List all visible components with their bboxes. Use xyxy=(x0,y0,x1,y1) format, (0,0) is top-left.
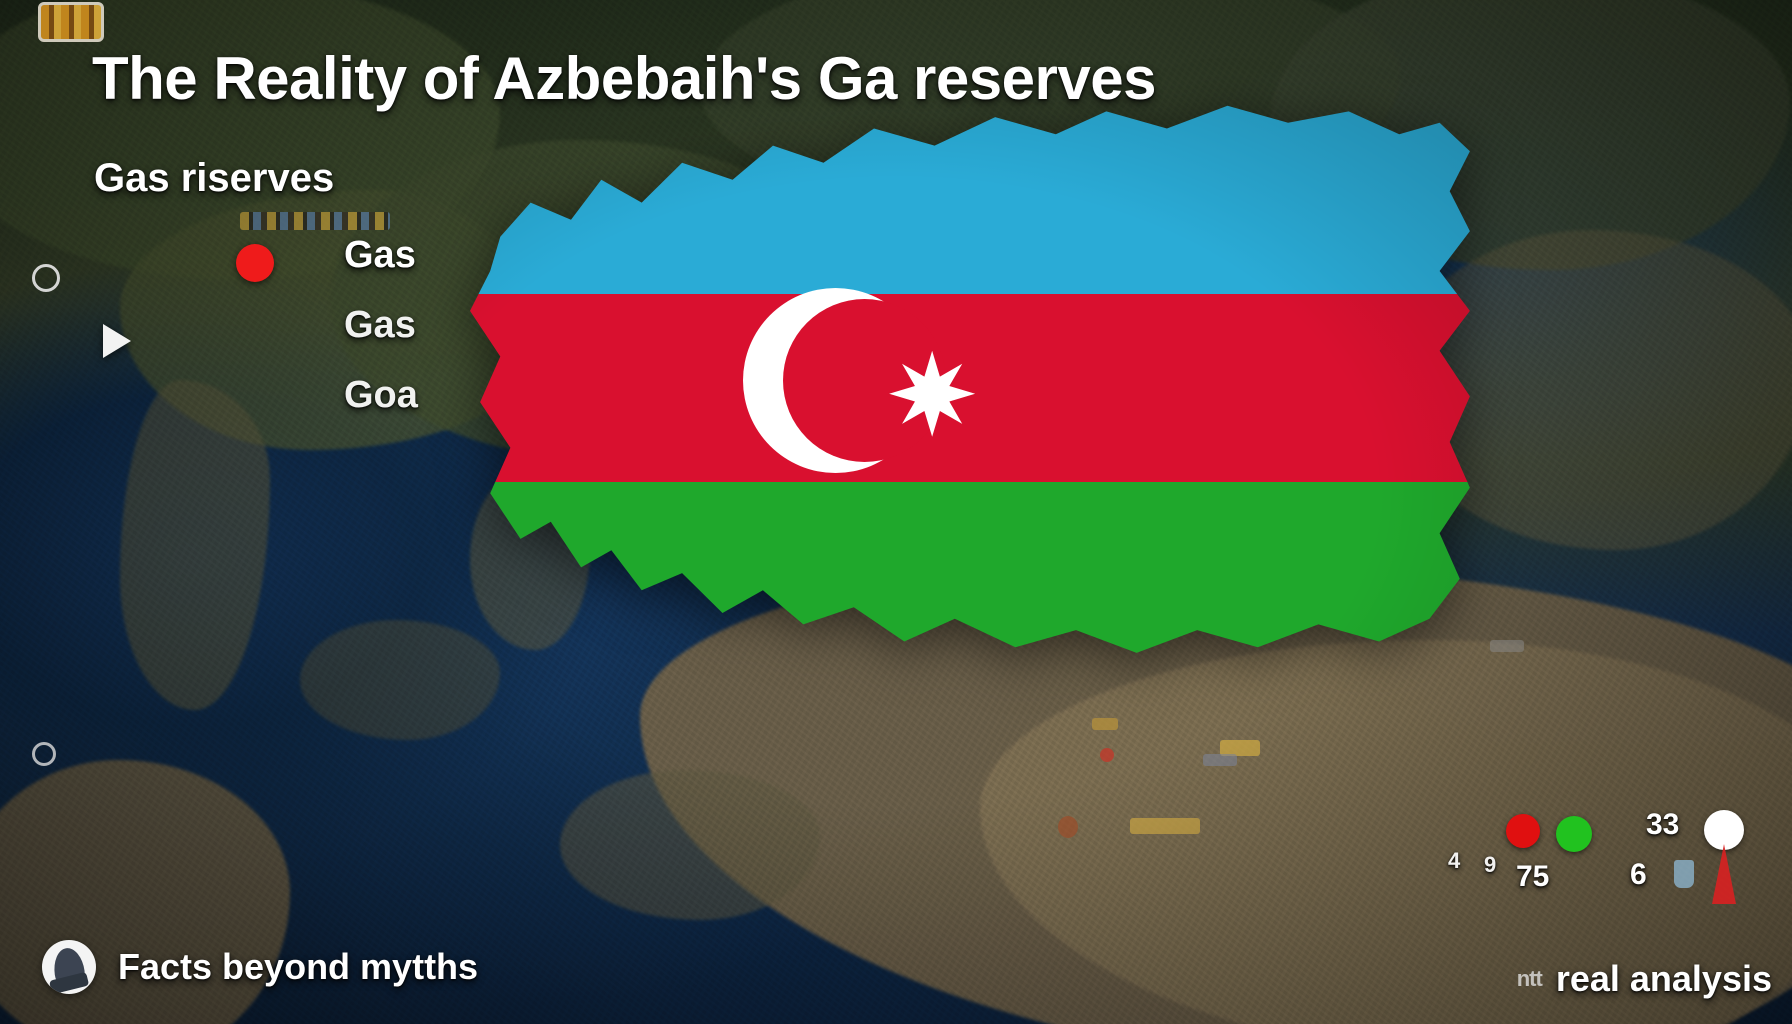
red-dot-icon xyxy=(236,244,274,282)
map-chip-icon xyxy=(38,2,104,42)
caption-text: real analysis xyxy=(1556,958,1772,1000)
circle-outline-icon xyxy=(32,264,60,292)
white-dot-icon xyxy=(1704,810,1744,850)
stat-value-6: 6 xyxy=(1630,858,1647,892)
brand-text: Facts beyond mytths xyxy=(118,946,478,988)
infographic-canvas: The Reality of Azbebaih's Ga reserves Ga… xyxy=(0,0,1792,1024)
stat-value-4: 4 xyxy=(1448,848,1460,874)
circle-outline-icon xyxy=(32,742,56,766)
stats-caption: ntt real analysis xyxy=(1517,958,1772,1000)
stat-cluster: 33 75 6 4 9 xyxy=(1430,808,1770,928)
avatar-figure xyxy=(51,946,86,990)
legend-title: Gas riserves xyxy=(94,156,334,201)
brand-watermark: Facts beyond mytths xyxy=(42,940,478,994)
green-dot-icon xyxy=(1556,816,1592,852)
stat-value-75: 75 xyxy=(1516,860,1549,894)
stat-value-9: 9 xyxy=(1484,852,1496,878)
page-title: The Reality of Azbebaih's Ga reserves xyxy=(92,44,1156,113)
legend-item-label: Gas xyxy=(344,234,416,277)
blue-chip-icon xyxy=(1674,860,1694,888)
red-dot-icon xyxy=(1506,814,1540,848)
profile-avatar-icon xyxy=(42,940,96,994)
stat-value-33: 33 xyxy=(1646,808,1679,842)
play-triangle-icon[interactable] xyxy=(103,324,131,358)
legend-item-label: Goa xyxy=(344,374,418,417)
caption-glyph: ntt xyxy=(1517,966,1542,992)
legend-item-label: Gas xyxy=(344,304,416,347)
